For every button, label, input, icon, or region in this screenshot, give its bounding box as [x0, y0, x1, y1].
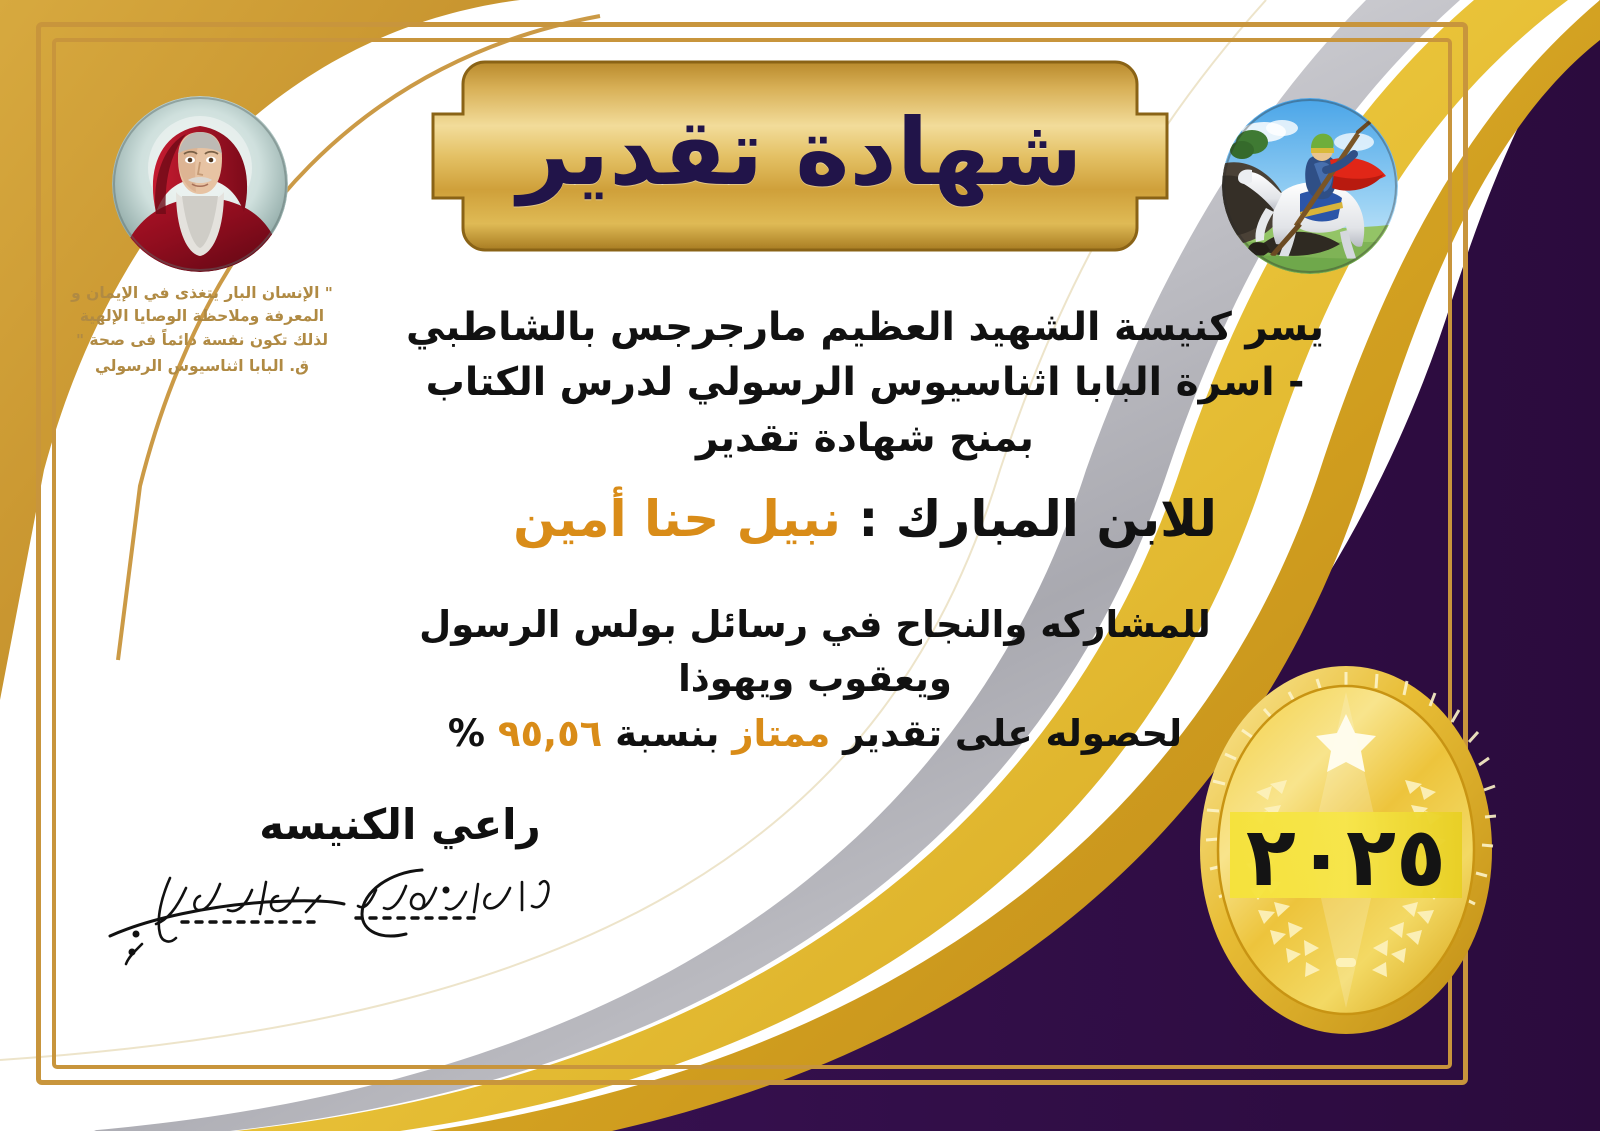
title-plaque: شهادة تقدير	[415, 56, 1185, 256]
percent-prefix: بنسبة	[615, 712, 719, 755]
grade-value: ممتاز	[732, 712, 830, 755]
signature-label: راعي الكنيسه	[220, 800, 580, 849]
saint-george-dragon-icon	[1222, 98, 1398, 274]
certificate-body: يسر كنيسة الشهيد العظيم مارجرجس بالشاطبي…	[330, 300, 1400, 466]
saint-quote-block: " الإنسان البار يتغذى في الإيمان و المعر…	[62, 282, 342, 378]
percent-symbol: %	[448, 712, 485, 755]
achievement-line-1: للمشاركه والنجاح في رسائل بولس الرسول	[250, 598, 1380, 652]
certificate-page: شهادة تقدير	[0, 0, 1600, 1131]
recipient-label: للابن المبارك :	[858, 490, 1217, 548]
signature-strokes	[70, 848, 630, 968]
grade-prefix: لحصوله على تقدير	[843, 712, 1182, 755]
gold-award-medal-icon: ٢٠٢٥	[1196, 652, 1496, 1040]
percent-value: ٩٥,٥٦	[498, 712, 602, 755]
body-line-2: - اسرة البابا اثناسيوس الرسولي لدرس الكت…	[330, 355, 1400, 410]
quote-text: " الإنسان البار يتغذى في الإيمان و المعر…	[71, 284, 333, 349]
saint-athanasius-art	[112, 96, 288, 272]
handwritten-signature	[70, 848, 630, 968]
recipient-line: للابن المبارك : نبيل حنا أمين	[330, 490, 1400, 548]
medal-year: ٢٠٢٥	[1196, 810, 1496, 905]
body-line-3: بمنح شهادة تقدير	[330, 411, 1400, 466]
body-line-1: يسر كنيسة الشهيد العظيم مارجرجس بالشاطبي	[330, 300, 1400, 355]
recipient-name: نبيل حنا أمين	[513, 490, 841, 548]
quote-attribution: ق. البابا اثناسيوس الرسولي	[62, 355, 342, 378]
certificate-title: شهادة تقدير	[415, 56, 1185, 256]
saint-george-art	[1222, 98, 1398, 274]
saint-athanasius-portrait-icon	[112, 96, 288, 272]
